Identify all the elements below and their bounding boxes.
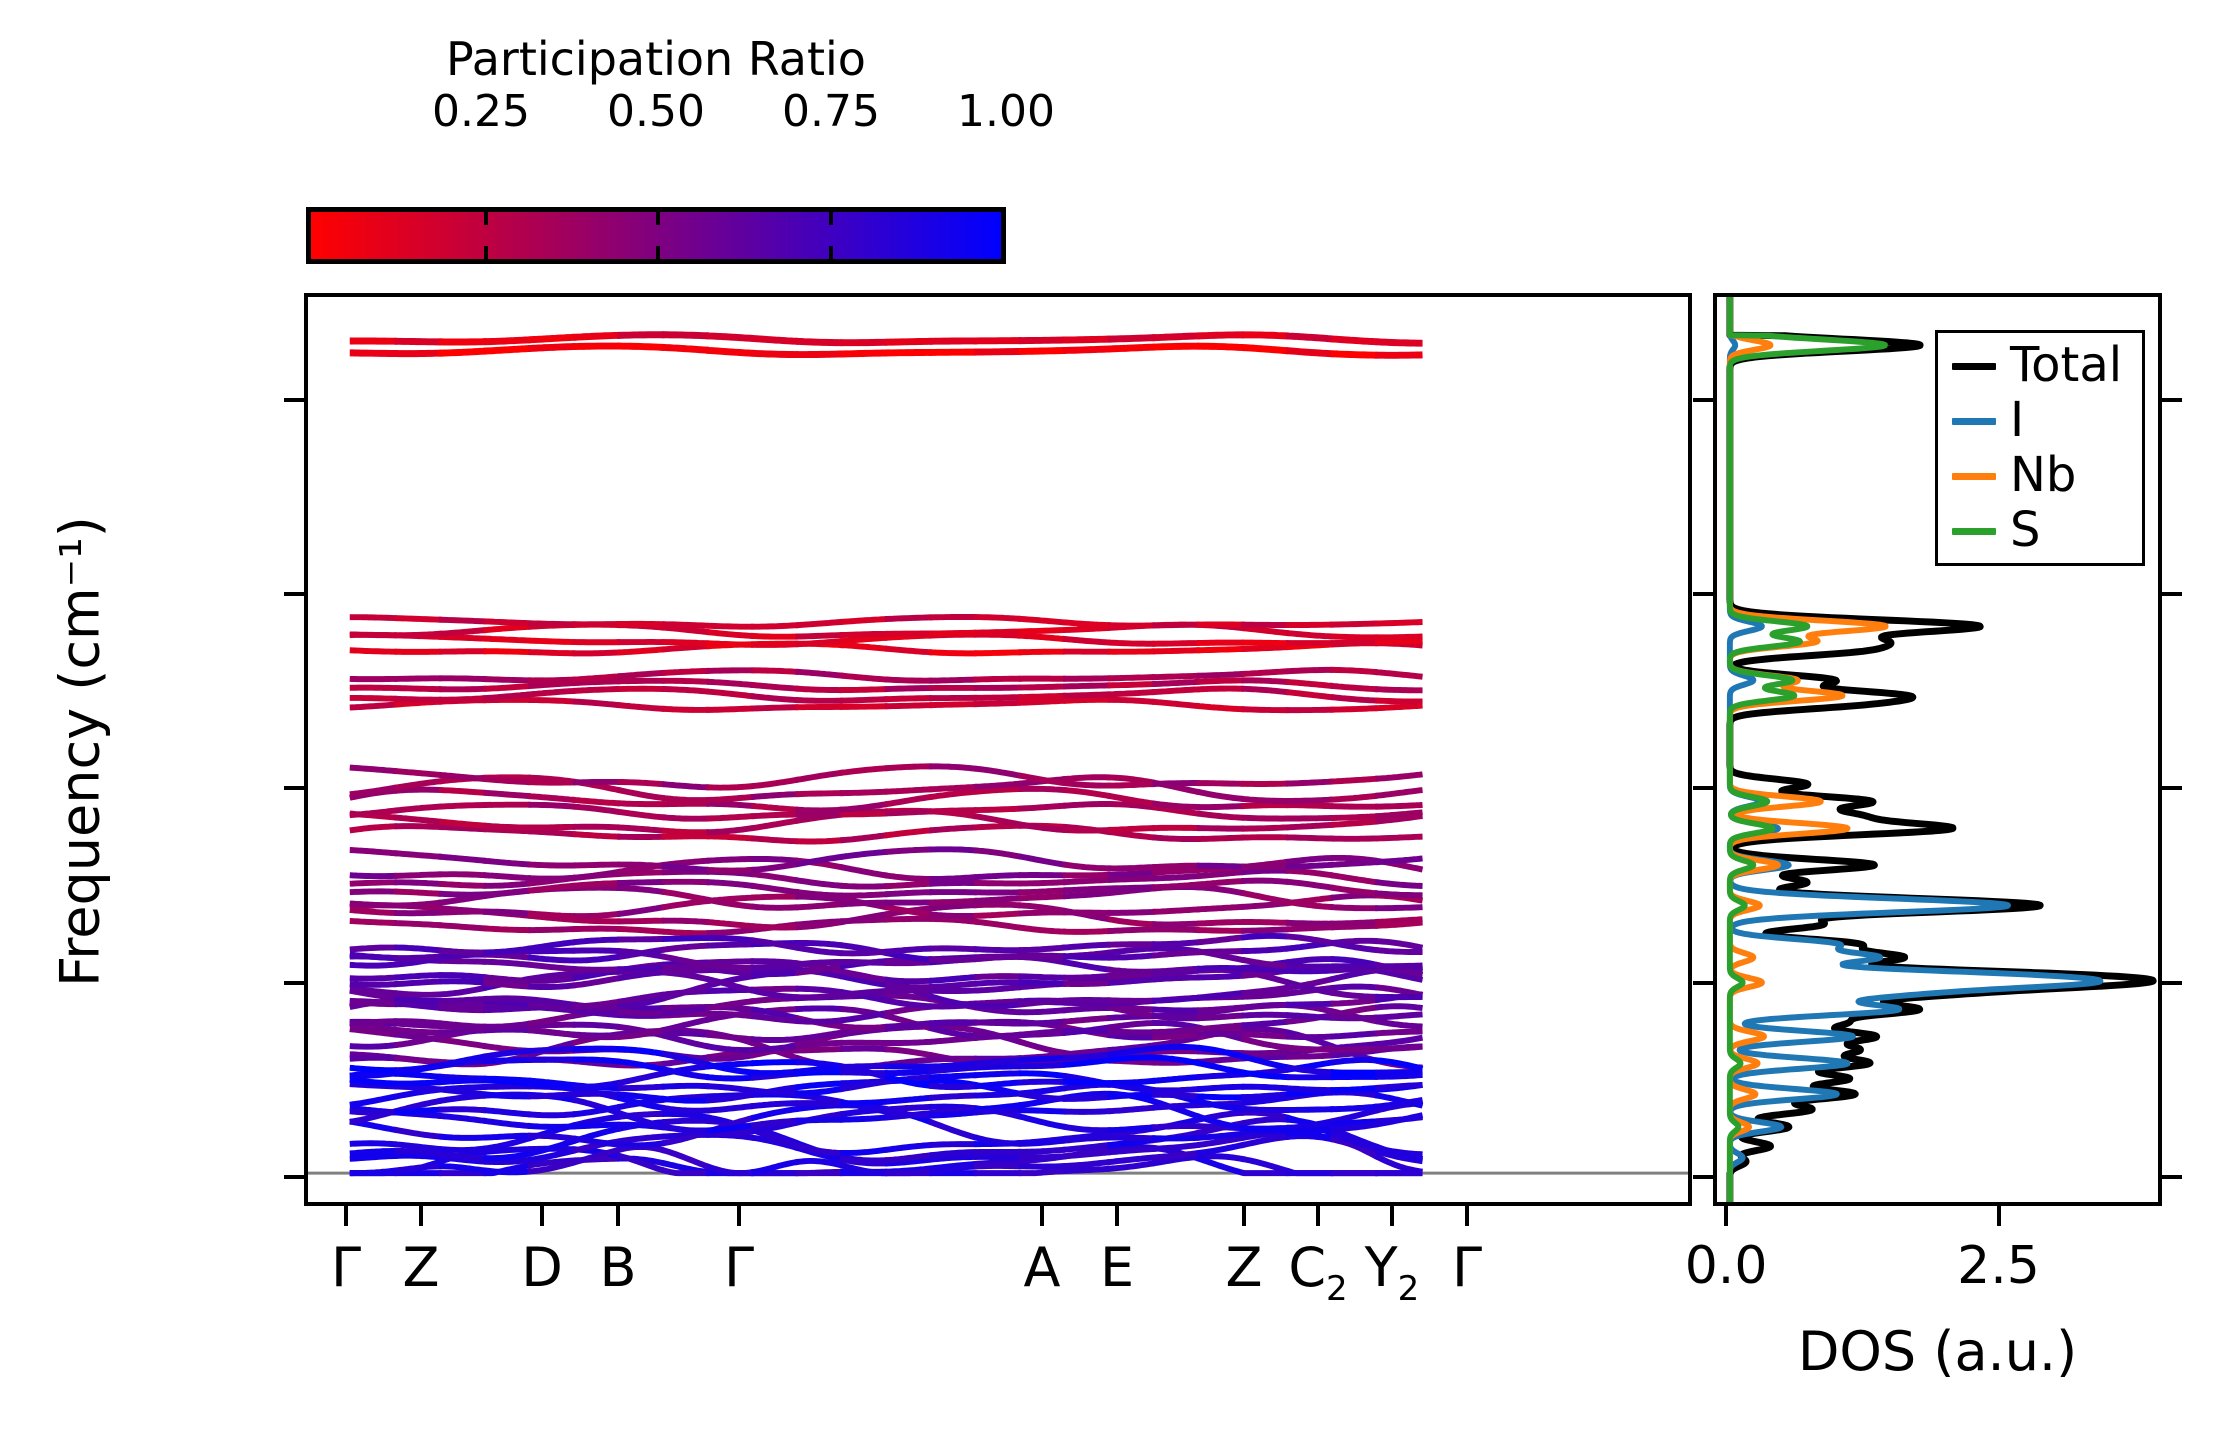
phonon-band-segment bbox=[350, 1045, 397, 1047]
phonon-band-segment bbox=[350, 1068, 397, 1070]
phonon-band-segment bbox=[706, 882, 753, 886]
phonon-band-segment bbox=[929, 633, 976, 634]
phonon-band-segment bbox=[1063, 639, 1110, 643]
phonon-band-segment bbox=[439, 1039, 486, 1046]
dos-x-tick-label: 2.5 bbox=[1957, 1236, 2040, 1296]
phonon-band-segment bbox=[1063, 945, 1110, 948]
phonon-band-segment bbox=[1375, 342, 1422, 343]
phonon-band-segment bbox=[1286, 633, 1333, 637]
phonon-band-segment bbox=[662, 892, 709, 900]
dos-x-tick bbox=[1997, 1206, 2001, 1226]
phonon-band-segment bbox=[1331, 821, 1378, 825]
phonon-band-segment bbox=[1063, 622, 1110, 625]
phonon-band-segment bbox=[885, 1171, 932, 1173]
phonon-band-segment bbox=[1375, 882, 1422, 886]
phonon-band-segment bbox=[1331, 1033, 1378, 1036]
phonon-band-segment bbox=[1197, 1074, 1244, 1077]
phonon-band-segment bbox=[751, 874, 798, 880]
phonon-band-segment bbox=[885, 1107, 932, 1110]
phonon-band-segment bbox=[1375, 907, 1422, 908]
colorbar-tick-0.75 bbox=[829, 246, 833, 259]
phonon-band-segment bbox=[706, 930, 753, 933]
phonon-band-segment bbox=[974, 898, 1021, 901]
phonon-band-segment bbox=[885, 679, 932, 680]
phonon-band-segment bbox=[439, 874, 486, 875]
phonon-band-segment bbox=[573, 1094, 620, 1095]
phonon-band-segment bbox=[1286, 692, 1333, 697]
phonon-band-segment bbox=[483, 912, 530, 914]
phonon-band-segment bbox=[528, 864, 575, 865]
phonon-band-segment bbox=[617, 1143, 664, 1145]
phonon-band-segment bbox=[974, 783, 1021, 786]
phonon-band-segment bbox=[1108, 692, 1155, 694]
phonon-band-segment bbox=[1286, 966, 1333, 967]
phonon-band-segment bbox=[1018, 806, 1065, 809]
phonon-band-segment bbox=[1331, 354, 1378, 355]
phonon-band-segment bbox=[974, 982, 1021, 984]
phonon-band-segment bbox=[1241, 709, 1288, 710]
phonon-band-segment bbox=[1108, 1032, 1155, 1033]
phonon-band-segment bbox=[796, 641, 843, 644]
phonon-band-segment bbox=[439, 698, 486, 700]
dos-y-tick-right bbox=[2162, 592, 2182, 596]
phonon-band-segment bbox=[1286, 858, 1333, 862]
phonon-band-segment bbox=[483, 340, 530, 342]
phonon-band-segment bbox=[974, 1035, 1021, 1037]
phonon-band-segment bbox=[840, 689, 887, 690]
phonon-band-segment bbox=[1063, 339, 1110, 340]
phonon-band-segment bbox=[706, 804, 753, 806]
dos-y-tick-left bbox=[1693, 398, 1713, 402]
phonon-band-segment bbox=[1063, 875, 1110, 876]
phonon-band-segment bbox=[974, 949, 1021, 950]
phonon-band-segment bbox=[1108, 949, 1155, 953]
phonon-band-segment bbox=[706, 670, 753, 671]
phonon-band-segment bbox=[1197, 689, 1244, 690]
phonon-band-segment bbox=[439, 689, 486, 690]
phonon-band-segment bbox=[662, 1114, 709, 1118]
phonon-band-segment bbox=[1375, 837, 1422, 839]
phonon-band-segment bbox=[1018, 982, 1065, 984]
phonon-band-segment bbox=[974, 850, 1021, 856]
band-x-tick-label: Γ bbox=[331, 1236, 361, 1299]
phonon-band-segment bbox=[1286, 825, 1333, 828]
phonon-band-segment bbox=[974, 816, 1021, 825]
phonon-band-segment bbox=[662, 921, 709, 922]
phonon-band-segment bbox=[1063, 1111, 1110, 1112]
phonon-band-segment bbox=[1331, 636, 1378, 637]
phonon-band-segment bbox=[929, 1075, 976, 1077]
phonon-band-segment bbox=[929, 704, 976, 705]
phonon-band-segment bbox=[1197, 1007, 1244, 1010]
phonon-band-segment bbox=[573, 914, 620, 916]
phonon-band-segment bbox=[1197, 335, 1244, 336]
phonon-band-segment bbox=[1108, 873, 1155, 875]
phonon-band-segment bbox=[796, 793, 843, 794]
phonon-band-segment bbox=[1197, 783, 1244, 784]
colorbar-tick-0.75 bbox=[829, 212, 833, 225]
phonon-band-segment bbox=[1108, 684, 1155, 685]
band-x-tick bbox=[1465, 1206, 1469, 1226]
colorbar bbox=[306, 207, 1006, 264]
phonon-band-segment bbox=[483, 686, 530, 689]
legend-swatch-nb bbox=[1952, 473, 1996, 480]
band-x-tick-label-text: Z bbox=[403, 1236, 440, 1299]
phonon-band-segment bbox=[394, 1030, 441, 1033]
phonon-band-segment bbox=[1241, 689, 1288, 693]
phonon-band-segment bbox=[439, 884, 486, 886]
phonon-band-segment bbox=[1197, 649, 1244, 650]
phonon-band-segment bbox=[840, 852, 887, 857]
phonon-band-segment bbox=[528, 652, 575, 653]
phonon-band-segment bbox=[394, 913, 441, 914]
phonon-band-segment bbox=[1152, 1126, 1199, 1127]
phonon-band-segment bbox=[706, 1086, 753, 1090]
phonon-band-segment bbox=[1108, 828, 1155, 830]
phonon-band-segment bbox=[1241, 871, 1288, 873]
phonon-band-segment bbox=[796, 1120, 843, 1121]
phonon-band-segment bbox=[706, 708, 753, 709]
phonon-band-segment bbox=[1286, 682, 1333, 686]
phonon-band-segment bbox=[350, 1111, 397, 1112]
phonon-band-segment bbox=[929, 849, 976, 850]
phonon-band-segment bbox=[394, 806, 441, 810]
phonon-band-segment bbox=[840, 1049, 887, 1050]
phonon-band-segment bbox=[617, 907, 664, 914]
phonon-band-segment bbox=[1286, 1036, 1333, 1037]
phonon-band-segment bbox=[528, 1049, 575, 1051]
dos-y-tick-left bbox=[1693, 981, 1713, 985]
phonon-band-segment bbox=[1331, 895, 1378, 898]
phonon-band-segment bbox=[929, 1059, 976, 1060]
phonon-band-segment bbox=[617, 803, 664, 804]
phonon-band-segment bbox=[929, 810, 976, 811]
phonon-band-segment bbox=[573, 1005, 620, 1007]
phonon-band-segment bbox=[1108, 979, 1155, 983]
phonon-band-segment bbox=[1286, 882, 1333, 888]
phonon-band-segment bbox=[1018, 1110, 1065, 1111]
phonon-band-segment bbox=[1108, 955, 1155, 957]
band-x-tick bbox=[1115, 1206, 1119, 1226]
phonon-band-segment bbox=[350, 1096, 397, 1105]
phonon-band-segment bbox=[974, 617, 1021, 619]
phonon-band-segment bbox=[662, 866, 709, 870]
phonon-band-segment bbox=[617, 827, 664, 830]
phonon-band-segment bbox=[1018, 1166, 1065, 1167]
phonon-band-segment bbox=[840, 353, 887, 354]
phonon-band-segment bbox=[1108, 1000, 1155, 1001]
phonon-band-segment bbox=[439, 1030, 486, 1032]
phonon-band-segment bbox=[706, 682, 753, 685]
phonon-band-segment bbox=[662, 901, 709, 908]
phonon-band-segment bbox=[1018, 1150, 1065, 1152]
phonon-band-segment bbox=[528, 985, 575, 987]
phonon-band-segment bbox=[796, 1020, 843, 1022]
band-structure-plot bbox=[308, 297, 1688, 1202]
phonon-band-segment bbox=[1197, 680, 1244, 681]
phonon-band-segment bbox=[1108, 700, 1155, 702]
phonon-band-segment bbox=[751, 897, 798, 898]
phonon-band-segment bbox=[483, 1094, 530, 1096]
phonon-band-segment bbox=[483, 694, 530, 698]
phonon-band-segment bbox=[1241, 1005, 1288, 1008]
phonon-band-segment bbox=[1018, 636, 1065, 639]
phonon-band-segment bbox=[751, 625, 798, 627]
phonon-band-segment bbox=[885, 1071, 932, 1073]
band-x-tick bbox=[1390, 1206, 1394, 1226]
phonon-band-segment bbox=[1375, 1047, 1422, 1049]
phonon-band-segment bbox=[1152, 876, 1199, 878]
phonon-band-segment bbox=[1241, 1159, 1288, 1171]
phonon-band-segment bbox=[1241, 680, 1288, 682]
phonon-band-segment bbox=[929, 680, 976, 681]
phonon-band-segment bbox=[1375, 1021, 1422, 1027]
phonon-band-segment bbox=[1331, 907, 1378, 908]
phonon-band-segment bbox=[662, 1033, 709, 1035]
dos-y-tick-right bbox=[2162, 1175, 2182, 1179]
phonon-band-segment bbox=[1018, 1082, 1065, 1083]
phonon-band-segment bbox=[929, 877, 976, 879]
phonon-band-segment bbox=[1152, 336, 1199, 338]
phonon-band-segment bbox=[1018, 701, 1065, 703]
phonon-band-segment bbox=[751, 707, 798, 708]
band-x-tick-label: Y2 bbox=[1365, 1236, 1420, 1299]
phonon-band-segment bbox=[1331, 1088, 1378, 1090]
phonon-band-segment bbox=[1063, 1127, 1110, 1131]
phonon-band-segment bbox=[662, 831, 709, 833]
phonon-band-segment bbox=[528, 1084, 575, 1087]
phonon-band-segment bbox=[528, 827, 575, 828]
phonon-band-segment bbox=[573, 1025, 620, 1027]
phonon-band-segment bbox=[439, 1080, 486, 1082]
phonon-band-segment bbox=[617, 967, 664, 969]
phonon-band-segment bbox=[1286, 800, 1333, 801]
phonon-band-segment bbox=[929, 883, 976, 884]
phonon-band-segment bbox=[796, 892, 843, 896]
phonon-band-segment bbox=[1152, 969, 1199, 972]
phonon-band-segment bbox=[929, 1086, 976, 1087]
phonon-band-segment bbox=[1063, 349, 1110, 351]
phonon-band-segment bbox=[350, 984, 397, 985]
phonon-band-segment bbox=[350, 904, 397, 906]
phonon-band-segment bbox=[796, 689, 843, 691]
phonon-band-segment bbox=[796, 840, 843, 841]
phonon-band-segment bbox=[662, 347, 709, 350]
colorbar-tick-0.25 bbox=[484, 212, 488, 225]
phonon-band-segment bbox=[394, 1021, 441, 1023]
phonon-band-segment bbox=[483, 1030, 530, 1031]
phonon-band-segment bbox=[617, 673, 664, 677]
phonon-band-segment bbox=[751, 794, 798, 797]
phonon-band-segment bbox=[617, 812, 664, 818]
phonon-band-segment bbox=[796, 989, 843, 993]
phonon-band-segment bbox=[483, 1086, 530, 1087]
phonon-band-segment bbox=[1197, 828, 1244, 829]
phonon-band-segment bbox=[1018, 789, 1065, 790]
phonon-band-segment bbox=[840, 962, 887, 963]
phonon-band-segment bbox=[483, 883, 530, 885]
phonon-band-segment bbox=[483, 1008, 530, 1010]
phonon-band-segment bbox=[974, 1060, 1021, 1064]
phonon-band-segment bbox=[751, 926, 798, 927]
phonon-band-segment bbox=[662, 1126, 709, 1130]
phonon-band-segment bbox=[1063, 1097, 1110, 1099]
phonon-band-segment bbox=[662, 798, 709, 800]
phonon-band-segment bbox=[1331, 339, 1378, 342]
legend-swatch-total bbox=[1952, 363, 1996, 370]
phonon-band-segment bbox=[1331, 987, 1378, 989]
phonon-band-segment bbox=[1152, 783, 1199, 784]
phonon-band-segment bbox=[974, 1004, 1021, 1006]
phonon-band-segment bbox=[1241, 335, 1288, 336]
phonon-band-segment bbox=[1375, 987, 1422, 995]
phonon-band-segment bbox=[1063, 700, 1110, 701]
phonon-band-segment bbox=[1286, 781, 1333, 783]
phonon-band-segment bbox=[1286, 871, 1333, 876]
band-x-tick-label: B bbox=[599, 1236, 636, 1299]
phonon-band-segment bbox=[1197, 1015, 1244, 1018]
phonon-band-segment bbox=[528, 623, 575, 624]
phonon-band-segment bbox=[751, 696, 798, 700]
phonon-band-segment bbox=[840, 867, 887, 876]
phonon-band-segment bbox=[483, 639, 530, 641]
phonon-band-segment bbox=[796, 1049, 843, 1051]
phonon-band-segment bbox=[974, 905, 1021, 906]
phonon-band-segment bbox=[1063, 880, 1110, 882]
phonon-band-segment bbox=[840, 952, 887, 954]
phonon-band-segment bbox=[840, 1026, 887, 1027]
phonon-band-segment bbox=[1197, 1087, 1244, 1089]
phonon-band-segment bbox=[573, 827, 620, 828]
phonon-band-segment bbox=[483, 627, 530, 631]
phonon-band-segment bbox=[483, 1060, 530, 1061]
phonon-band-segment bbox=[1018, 856, 1065, 865]
phonon-band-segment bbox=[706, 626, 753, 627]
phonon-band-segment bbox=[439, 1023, 486, 1027]
legend-item-total: Total bbox=[1948, 341, 2138, 393]
phonon-band-segment bbox=[439, 894, 486, 895]
phonon-band-segment bbox=[706, 1106, 753, 1111]
phonon-band-segment bbox=[394, 341, 441, 342]
phonon-band-segment bbox=[1152, 1035, 1199, 1038]
phonon-band-segment bbox=[350, 1079, 397, 1083]
phonon-band-segment bbox=[751, 1062, 798, 1063]
legend-label: I bbox=[2010, 394, 2024, 446]
phonon-band-segment bbox=[929, 1022, 976, 1023]
phonon-band-segment bbox=[662, 335, 709, 336]
phonon-band-segment bbox=[885, 797, 932, 805]
band-x-tick-label: C2 bbox=[1288, 1236, 1347, 1299]
dos-y-tick-right bbox=[2162, 398, 2182, 402]
phonon-band-segment bbox=[974, 809, 1021, 811]
phonon-band-segment bbox=[1018, 890, 1065, 892]
phonon-band-segment bbox=[528, 1114, 575, 1115]
phonon-band-segment bbox=[1152, 1016, 1199, 1019]
band-x-tick bbox=[419, 1206, 423, 1226]
band-y-tick-labels: 0100200300400 bbox=[0, 0, 270, 1455]
phonon-band-segment bbox=[1063, 1169, 1110, 1171]
legend-label: Nb bbox=[2010, 449, 2076, 501]
phonon-band-segment bbox=[1018, 619, 1065, 623]
phonon-band-segment bbox=[439, 912, 486, 913]
phonon-band-segment bbox=[439, 1136, 486, 1137]
phonon-band-segment bbox=[350, 891, 397, 892]
phonon-band-segment bbox=[1375, 858, 1422, 862]
phonon-band-segment bbox=[840, 894, 887, 895]
phonon-band-segment bbox=[1286, 936, 1333, 943]
phonon-band-segment bbox=[1063, 888, 1110, 890]
phonon-band-segment bbox=[885, 811, 932, 813]
phonon-band-segment bbox=[350, 617, 397, 618]
phonon-band-segment bbox=[1018, 1156, 1065, 1157]
phonon-band-segment bbox=[483, 861, 530, 865]
phonon-band-segment bbox=[706, 859, 753, 861]
phonon-band-segment bbox=[1018, 1073, 1065, 1076]
phonon-band-segment bbox=[1197, 1063, 1244, 1073]
phonon-band-segment bbox=[394, 699, 441, 700]
phonon-band-segment bbox=[1286, 1088, 1333, 1090]
phonon-band-segment bbox=[394, 882, 441, 884]
phonon-band-segment bbox=[1018, 1116, 1065, 1127]
phonon-band-segment bbox=[1241, 818, 1288, 819]
phonon-band-segment bbox=[350, 1001, 397, 1004]
phonon-band-segment bbox=[1197, 1096, 1244, 1097]
phonon-band-segment bbox=[1331, 1049, 1378, 1050]
phonon-band-segment bbox=[1108, 1035, 1155, 1038]
phonon-band-segment bbox=[439, 678, 486, 679]
phonon-band-segment bbox=[706, 836, 753, 838]
band-y-axis-title: Frequency (cm⁻¹) bbox=[49, 442, 112, 1062]
phonon-band-segment bbox=[929, 984, 976, 987]
phonon-band-segment bbox=[528, 878, 575, 879]
phonon-band-segment bbox=[573, 652, 620, 653]
phonon-band-segment bbox=[662, 817, 709, 818]
band-x-tick-label: D bbox=[521, 1236, 563, 1299]
phonon-band-segment bbox=[1331, 1018, 1378, 1019]
phonon-band-segment bbox=[974, 351, 1021, 352]
phonon-band-segment bbox=[439, 1166, 486, 1170]
phonon-band-segment bbox=[394, 771, 441, 775]
phonon-band-segment bbox=[1375, 919, 1422, 922]
phonon-band-segment bbox=[1063, 1082, 1110, 1083]
phonon-band-segment bbox=[706, 786, 753, 788]
phonon-band-segment bbox=[1286, 902, 1333, 908]
phonon-band-segment bbox=[1108, 784, 1155, 786]
phonon-band-segment bbox=[929, 901, 976, 903]
phonon-band-segment bbox=[1152, 1095, 1199, 1097]
phonon-band-segment bbox=[573, 883, 620, 886]
phonon-band-segment bbox=[528, 965, 575, 969]
phonon-band-segment bbox=[929, 827, 976, 830]
phonon-band-segment bbox=[1108, 969, 1155, 971]
phonon-band-segment bbox=[573, 1059, 620, 1061]
phonon-band-segment bbox=[662, 946, 709, 950]
phonon-band-segment bbox=[1375, 1038, 1422, 1045]
phonon-band-segment bbox=[1108, 642, 1155, 643]
phonon-band-segment bbox=[350, 1073, 397, 1076]
phonon-band-segment bbox=[1331, 686, 1378, 689]
phonon-band-segment bbox=[840, 1072, 887, 1073]
phonon-band-segment bbox=[1108, 1057, 1155, 1060]
phonon-band-segment bbox=[483, 651, 530, 652]
phonon-band-segment bbox=[573, 940, 620, 943]
phonon-band-segment bbox=[885, 688, 932, 689]
phonon-band-segment bbox=[885, 705, 932, 706]
phonon-band-segment bbox=[617, 705, 664, 709]
phonon-band-segment bbox=[394, 902, 441, 905]
phonon-band-segment bbox=[751, 780, 798, 787]
phonon-band-segment bbox=[1018, 1010, 1065, 1012]
